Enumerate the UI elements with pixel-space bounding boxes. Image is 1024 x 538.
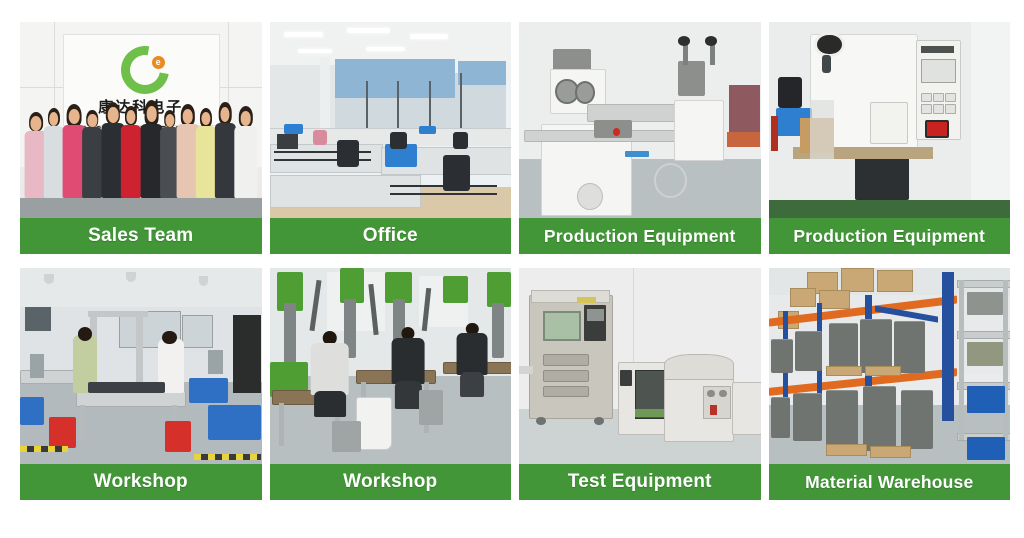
bench-leg — [279, 403, 284, 446]
chamber-top-cover — [531, 290, 610, 304]
wire-spool-stack — [863, 386, 897, 452]
photo-workshop-2 — [270, 268, 512, 464]
caption-sales-team: Sales Team — [20, 218, 262, 254]
blue-bin — [20, 397, 44, 424]
molding-machine — [443, 276, 467, 303]
grid-cell-sales-team[interactable]: e 康达科电子 CACTUS ELECTRONICS — [20, 22, 262, 254]
scene-test-equipment — [519, 268, 761, 464]
crimping-die-head — [875, 163, 897, 198]
blue-bin — [189, 378, 228, 403]
work-bench-left — [20, 370, 75, 384]
drop-test-controls — [620, 370, 632, 386]
caption-workshop-1: Workshop — [20, 464, 262, 500]
wire-spool-stack — [795, 331, 822, 371]
pallet — [865, 366, 901, 376]
blue-storage-bin — [967, 437, 1006, 461]
machine-brand-plate — [625, 151, 649, 157]
second-machine-head — [678, 61, 705, 96]
carton-stack — [877, 270, 913, 292]
photo-material-warehouse — [769, 268, 1011, 464]
photo-production-equipment-2 — [769, 22, 1011, 218]
ceiling-light — [284, 32, 323, 37]
machine-slot — [822, 55, 832, 73]
background-table — [727, 132, 761, 148]
bench-tool-frame — [136, 311, 143, 389]
molding-machine — [487, 272, 511, 307]
shelf-goods — [967, 342, 1003, 366]
emergency-stop-button — [925, 120, 948, 138]
worker-background — [30, 354, 44, 378]
background-workers — [729, 85, 760, 132]
caption-production-equipment-2: Production Equipment — [769, 218, 1011, 254]
office-worker — [453, 132, 467, 150]
wall-banner — [25, 307, 52, 331]
office-worker — [390, 132, 407, 150]
caption-test-equipment: Test Equipment — [519, 464, 761, 500]
photo-office — [270, 22, 512, 218]
salt-spray-lid — [664, 354, 734, 380]
panel-button — [921, 93, 933, 103]
carton-stack — [841, 268, 874, 292]
grid-cell-production-equipment-1[interactable]: Production Equipment — [519, 22, 761, 254]
scene-production-equipment-1 — [519, 22, 761, 218]
wall-column — [320, 57, 330, 131]
cable-bundle — [233, 315, 262, 393]
wire-spool-stack — [901, 390, 932, 450]
chamber-front-slot — [543, 386, 588, 398]
salt-spray-knob — [707, 390, 714, 398]
scene-material-warehouse — [769, 268, 1011, 464]
chamber-display — [587, 309, 604, 321]
blue-storage-box — [419, 126, 436, 134]
grid-cell-workshop-1[interactable]: Workshop — [20, 268, 262, 500]
pallet — [826, 444, 867, 456]
photo-grid-page: e 康达科电子 CACTUS ELECTRONICS — [0, 0, 1024, 538]
control-panel-model-label — [921, 46, 955, 54]
white-bucket — [356, 397, 392, 450]
ceiling-light — [298, 49, 332, 53]
scene-sales-team: e 康达科电子 CACTUS ELECTRONICS — [20, 22, 262, 218]
pallet — [826, 366, 862, 376]
ceiling-light — [366, 47, 405, 51]
caption-production-equipment-1: Production Equipment — [519, 218, 761, 254]
molding-machine-column — [492, 303, 504, 358]
photo-grid: e 康达科电子 CACTUS ELECTRONICS — [20, 22, 1010, 500]
chamber-front-slot — [543, 370, 588, 382]
stool — [419, 390, 443, 425]
second-machine — [674, 100, 724, 161]
worker-head — [78, 327, 92, 341]
blue-bin — [208, 405, 261, 440]
worker-background — [208, 350, 222, 374]
shelf-goods — [967, 292, 1003, 316]
machine-vent-grille — [577, 183, 603, 210]
scene-office — [270, 22, 512, 218]
wall-right-panel — [971, 22, 1010, 200]
window-mullion — [429, 81, 431, 132]
ceiling-lamp — [126, 272, 136, 282]
cactus-logo-e-badge-icon: e — [152, 56, 165, 69]
green-floor-mat — [769, 200, 1011, 218]
ceiling-light — [410, 34, 449, 39]
pallet — [870, 446, 911, 458]
wire-spool-stack — [860, 319, 891, 373]
bench-tool-frame-top — [88, 311, 148, 317]
blue-storage-box — [284, 124, 303, 134]
bench-leg — [80, 405, 85, 440]
caption-office: Office — [270, 218, 512, 254]
floor — [20, 198, 262, 218]
worker-seated — [306, 331, 354, 417]
scene-production-equipment-2 — [769, 22, 1011, 218]
photo-production-equipment-1 — [519, 22, 761, 218]
control-panel-display — [921, 59, 957, 83]
caption-material-warehouse: Material Warehouse — [769, 464, 1011, 500]
drop-test-platform — [635, 409, 666, 417]
desk-monitor — [277, 134, 299, 150]
floor-safety-tape — [194, 454, 262, 460]
worker-seated — [453, 323, 492, 397]
molding-machine-column — [284, 303, 296, 370]
grid-cell-production-equipment-2[interactable]: Production Equipment — [769, 22, 1011, 254]
grid-cell-workshop-2[interactable]: Workshop — [270, 268, 512, 500]
ceiling — [20, 268, 262, 307]
office-worker — [443, 155, 470, 190]
side-table — [732, 382, 761, 435]
left-table — [519, 366, 533, 374]
person — [233, 106, 260, 198]
carton-stack — [819, 290, 850, 310]
window-mullion — [460, 73, 462, 132]
chamber-caster — [536, 417, 546, 425]
red-stool — [165, 421, 192, 452]
chamber-label — [577, 297, 596, 303]
scene-workshop-2 — [270, 268, 512, 464]
shelf-upright — [1003, 280, 1008, 441]
dark-equipment — [778, 77, 802, 108]
pressure-gauge-icon — [814, 32, 844, 58]
salt-spray-indicator — [710, 405, 717, 415]
ceiling-light — [347, 28, 390, 33]
molding-machine — [340, 268, 364, 303]
panel-button — [945, 93, 957, 103]
wire-spool-stack — [826, 390, 857, 450]
grid-cell-material-warehouse[interactable]: Material Warehouse — [769, 268, 1011, 500]
wire-spool-stack — [793, 393, 822, 441]
chamber-front-slot — [543, 354, 588, 366]
wire-spool-stack — [771, 397, 790, 437]
partition-slat — [390, 193, 496, 195]
photo-test-equipment — [519, 268, 761, 464]
wrapped-pallet-film — [810, 100, 834, 159]
ceiling-lamp — [199, 276, 209, 286]
red-cable — [771, 116, 778, 151]
window-mullion — [397, 81, 399, 132]
window-blind — [335, 59, 456, 98]
office-worker — [313, 130, 327, 146]
shelf-upright — [959, 280, 964, 441]
office-worker — [337, 140, 359, 167]
blue-storage-bin — [967, 386, 1006, 413]
parts-on-bench — [88, 382, 165, 394]
carton-stack — [790, 288, 816, 308]
panel-button — [945, 104, 957, 114]
ceiling-fixture — [705, 36, 717, 46]
scene-workshop-1 — [20, 268, 262, 464]
floor-safety-tape — [20, 446, 68, 452]
ceiling-fixture — [678, 36, 690, 46]
salt-spray-knob — [719, 390, 726, 398]
photo-sales-team: e 康达科电子 CACTUS ELECTRONICS — [20, 22, 262, 218]
panel-button — [933, 93, 945, 103]
panel-button — [921, 104, 933, 114]
window-blind — [458, 61, 506, 85]
stool — [332, 421, 361, 452]
wire-spool-stack — [771, 339, 793, 373]
window — [182, 315, 213, 348]
rack-upright — [942, 272, 954, 421]
chamber-caster — [594, 417, 604, 425]
photo-workshop-1 — [20, 268, 262, 464]
red-stool — [49, 417, 76, 448]
ceiling-lamp — [44, 274, 54, 284]
chamber-viewing-window — [543, 311, 581, 340]
caption-workshop-2: Workshop — [270, 464, 512, 500]
grid-cell-office[interactable]: Office — [270, 22, 512, 254]
grid-cell-test-equipment[interactable]: Test Equipment — [519, 268, 761, 500]
panel-button — [933, 104, 945, 114]
window-mullion — [366, 81, 368, 132]
machine-side-door — [870, 102, 908, 143]
wire-spool-stack — [829, 323, 858, 371]
